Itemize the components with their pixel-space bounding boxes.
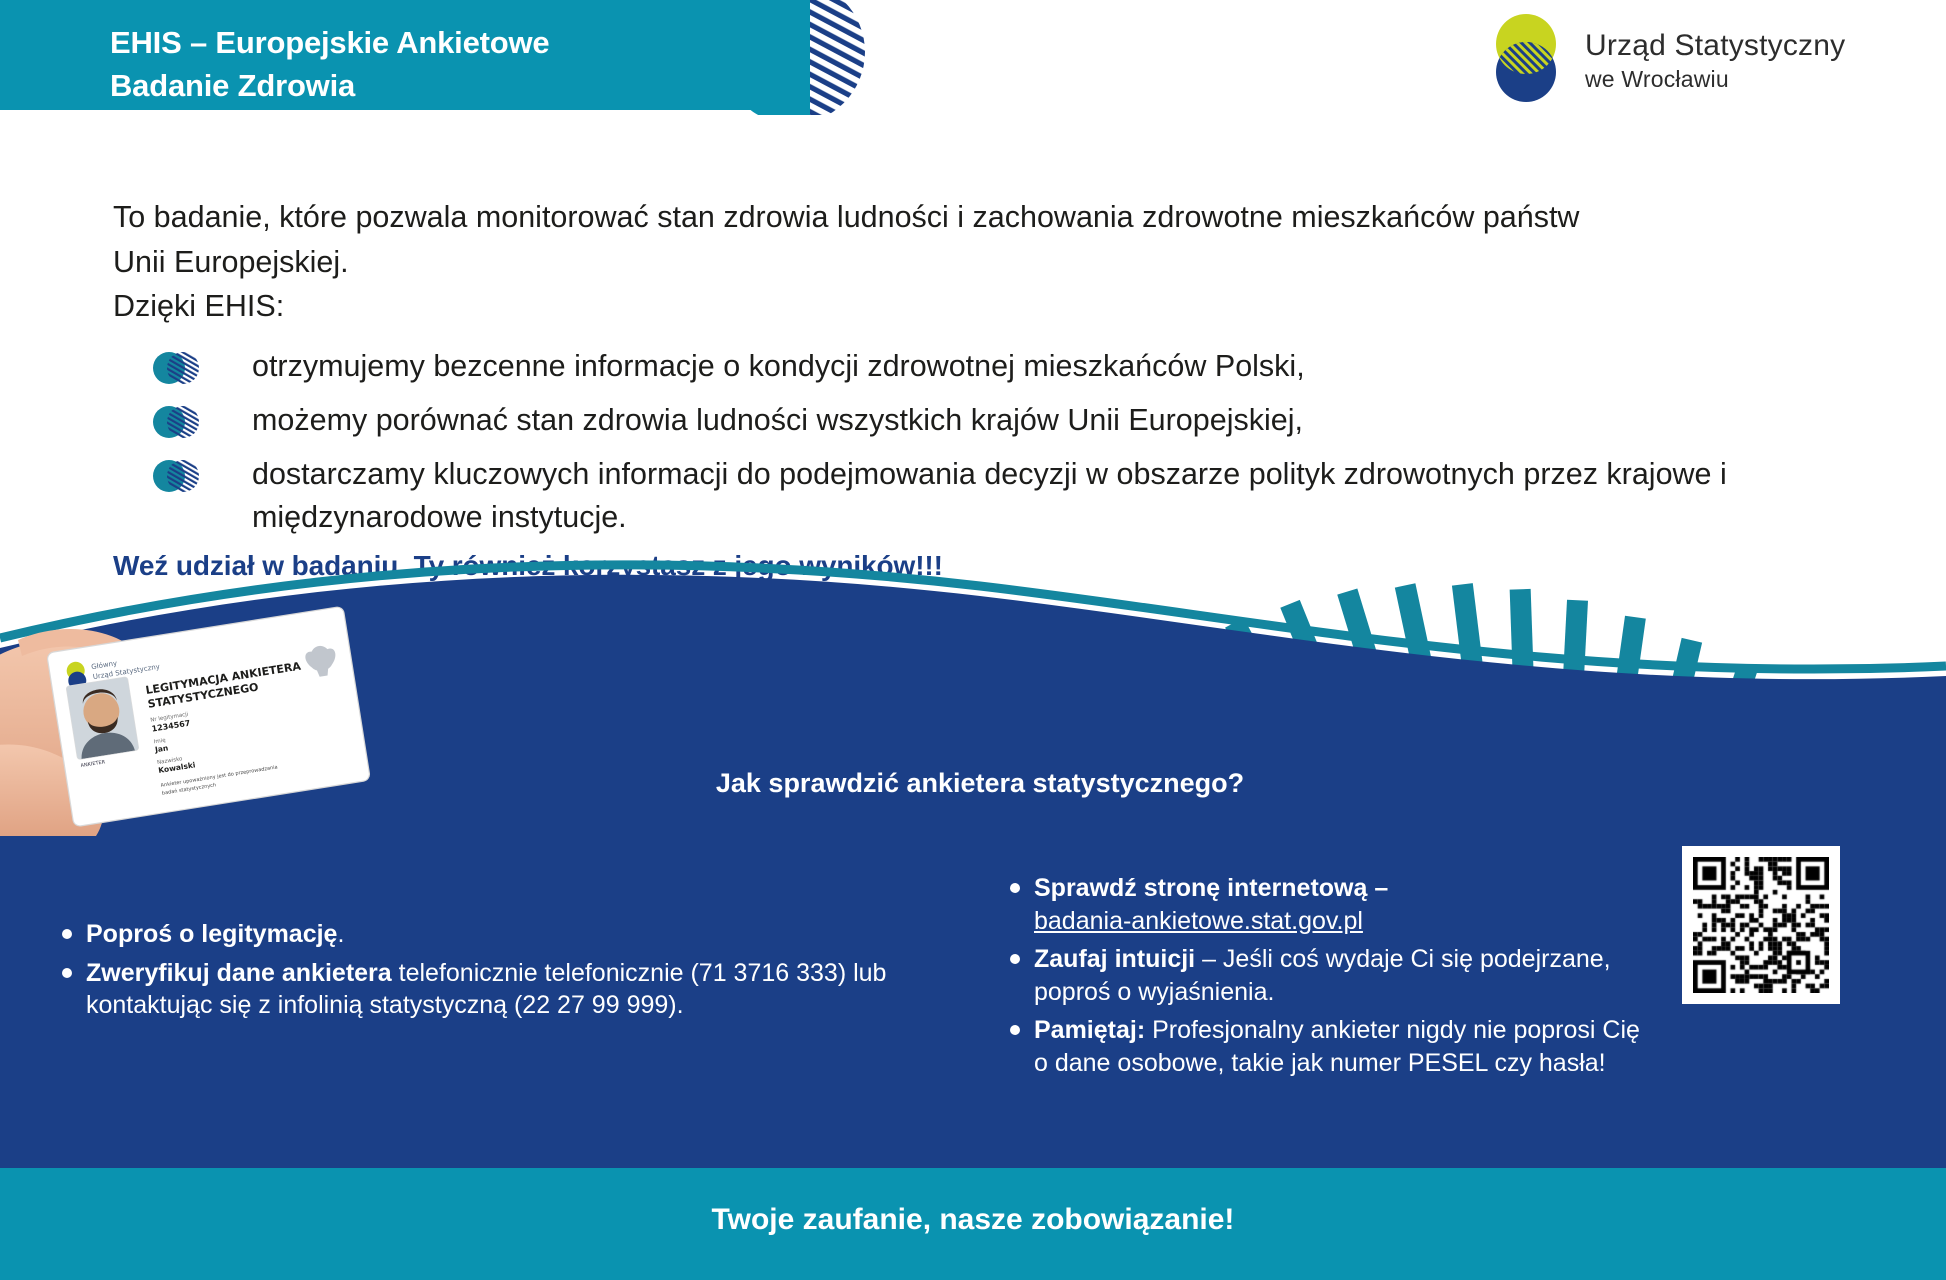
list-item: otrzymujemy bezcenne informacje o kondyc…	[152, 345, 1872, 395]
bullet-dot-icon	[62, 929, 72, 939]
list-item-text: Zaufaj intuicji – Jeśli coś wydaje Ci si…	[1034, 943, 1650, 1008]
benefit-text: możemy porównać stan zdrowia ludności ws…	[252, 399, 1872, 442]
verification-list-left: Poproś o legitymację. Zweryfikuj dane an…	[62, 918, 962, 1028]
title-line-1: EHIS – Europejskie Ankietowe	[110, 25, 549, 60]
bullet-dot-icon	[62, 968, 72, 978]
bullet-marker-icon	[152, 405, 202, 439]
list-item-bold: Sprawdź stronę internetową –	[1034, 874, 1388, 902]
list-item-rest: .	[337, 920, 344, 948]
logo-line-2: we Wrocławiu	[1585, 65, 1845, 93]
verification-list-right: Sprawdź stronę internetową – badania-ank…	[1010, 872, 1650, 1085]
bullet-dot-icon	[1010, 954, 1020, 964]
benefit-text: otrzymujemy bezcenne informacje o kondyc…	[252, 345, 1872, 388]
gus-logo: Urząd Statystyczny we Wrocławiu	[1480, 12, 1900, 104]
intro-line-1: To badanie, które pozwala monitorować st…	[113, 195, 1813, 240]
intro-line-2: Unii Europejskiej.	[113, 240, 1813, 285]
list-item-text: Zweryfikuj dane ankietera telefonicznie …	[86, 957, 962, 1022]
intro-paragraph: To badanie, które pozwala monitorować st…	[113, 195, 1813, 329]
portrait-photo	[66, 677, 139, 760]
list-item: Poproś o legitymację.	[62, 918, 962, 951]
intro-line-3: Dzięki EHIS:	[113, 284, 1813, 329]
gus-logo-mark	[1480, 12, 1572, 104]
list-item-text: Pamiętaj: Profesjonalny ankieter nigdy n…	[1034, 1014, 1650, 1079]
title-line-2: Badanie Zdrowia	[110, 65, 750, 108]
list-item: Pamiętaj: Profesjonalny ankieter nigdy n…	[1010, 1014, 1650, 1079]
list-item-bold: Zweryfikuj dane ankietera	[86, 959, 392, 987]
list-item-bold: Pamiętaj:	[1034, 1016, 1145, 1044]
gus-logo-text: Urząd Statystyczny we Wrocławiu	[1585, 28, 1845, 93]
list-item: Zaufaj intuicji – Jeśli coś wydaje Ci si…	[1010, 943, 1650, 1008]
list-item: możemy porównać stan zdrowia ludności ws…	[152, 399, 1872, 449]
bullet-dot-icon	[1010, 883, 1020, 893]
footer-slogan: Twoje zaufanie, nasze zobowiązanie!	[0, 1203, 1946, 1237]
page-title: EHIS – Europejskie Ankietowe Badanie Zdr…	[110, 22, 750, 108]
list-item: Zweryfikuj dane ankietera telefonicznie …	[62, 957, 962, 1022]
bullet-marker-icon	[152, 351, 202, 385]
hand-holding-id-card-photo: Główny Urząd Statystyczny ANKIETER LEGIT…	[0, 600, 520, 850]
list-item: Sprawdź stronę internetową – badania-ank…	[1010, 872, 1650, 937]
logo-line-1: Urząd Statystyczny	[1585, 28, 1845, 65]
list-item-text: Poproś o legitymację.	[86, 918, 962, 951]
panel-heading: Jak sprawdzić ankietera statystycznego?	[660, 768, 1300, 799]
list-item-bold: Poproś o legitymację	[86, 920, 337, 948]
list-item-bold: Zaufaj intuicji	[1034, 945, 1195, 973]
website-link[interactable]: badania-ankietowe.stat.gov.pl	[1034, 907, 1363, 935]
list-item-text: Sprawdź stronę internetową – badania-ank…	[1034, 872, 1650, 937]
qr-code[interactable]	[1682, 846, 1840, 1004]
bullet-dot-icon	[1010, 1025, 1020, 1035]
qr-code-canvas	[1693, 857, 1829, 993]
